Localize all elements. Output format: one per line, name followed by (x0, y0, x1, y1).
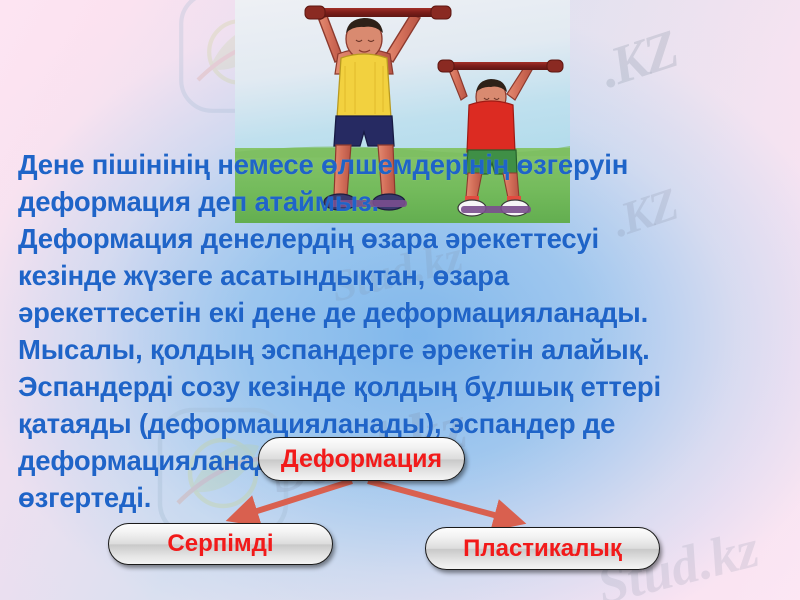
watermark-kz-top: .KZ (592, 18, 684, 101)
slide-canvas: .KZ .KZ Stud.kz Stud.kz Stud.kz (0, 0, 800, 600)
diagram-node-plastic[interactable]: Пластикалық (425, 527, 660, 570)
diagram-node-elastic[interactable]: Серпімді (108, 523, 333, 565)
diagram-node-deformation[interactable]: Деформация (258, 437, 465, 481)
